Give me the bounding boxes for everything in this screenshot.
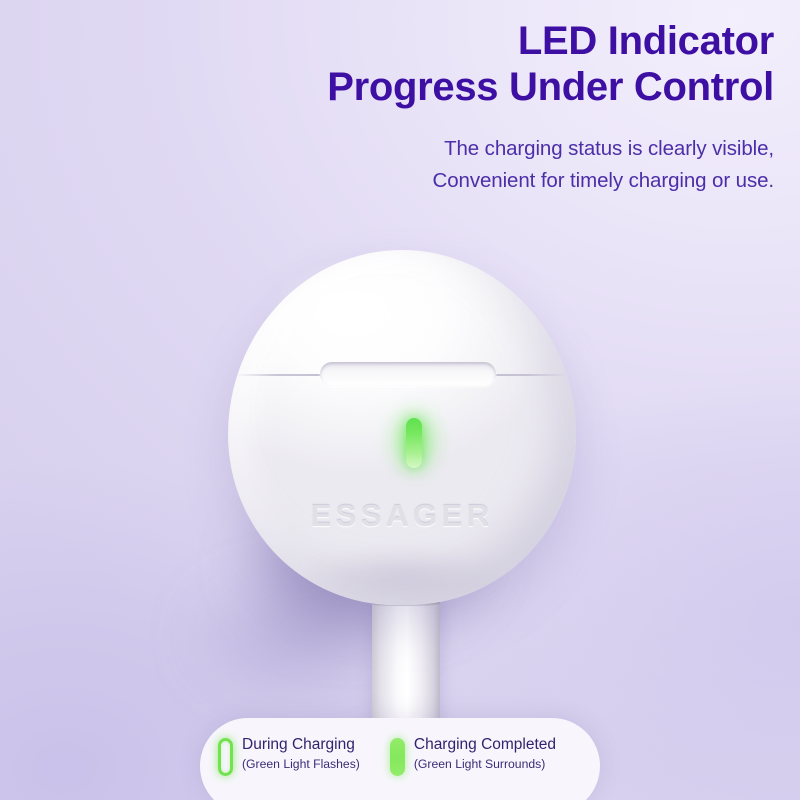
legend-item-charging-completed: Charging Completed (Green Light Surround… — [360, 736, 556, 776]
case-lid-groove — [320, 362, 496, 386]
earbuds-charging-case — [228, 250, 576, 605]
header-text-block: LED Indicator Progress Under Control The… — [134, 18, 774, 198]
headline-line-1: LED Indicator — [134, 18, 774, 64]
subtext-line-1: The charging status is clearly visible, — [134, 133, 774, 165]
legend-text-group: Charging Completed (Green Light Surround… — [414, 736, 556, 771]
case-highlight — [262, 266, 462, 386]
legend-caption: (Green Light Surrounds) — [414, 757, 556, 771]
cable-connector-seam — [372, 597, 440, 606]
capsule-outline-icon — [218, 738, 233, 776]
case-ground-shadow — [150, 560, 450, 710]
case-bottom-shading — [262, 520, 542, 600]
legend-title: During Charging — [242, 736, 355, 753]
led-status-legend: During Charging (Green Light Flashes) Ch… — [200, 718, 600, 800]
legend-text-group: During Charging (Green Light Flashes) — [242, 736, 360, 771]
led-glow-halo — [374, 392, 456, 488]
led-indicator-light — [406, 418, 422, 468]
headline-line-2: Progress Under Control — [134, 64, 774, 110]
case-drop-shadow — [186, 453, 537, 701]
subtext-block: The charging status is clearly visible, … — [134, 133, 774, 198]
capsule-solid-icon — [390, 738, 405, 776]
promo-banner: LED Indicator Progress Under Control The… — [0, 0, 800, 800]
brand-wordmark: ESSAGER — [228, 498, 576, 534]
legend-caption: (Green Light Flashes) — [242, 757, 360, 771]
legend-title: Charging Completed — [414, 736, 556, 753]
subtext-line-2: Convenient for timely charging or use. — [134, 165, 774, 197]
legend-item-during-charging: During Charging (Green Light Flashes) — [200, 736, 360, 776]
case-lid-seam — [236, 374, 568, 376]
